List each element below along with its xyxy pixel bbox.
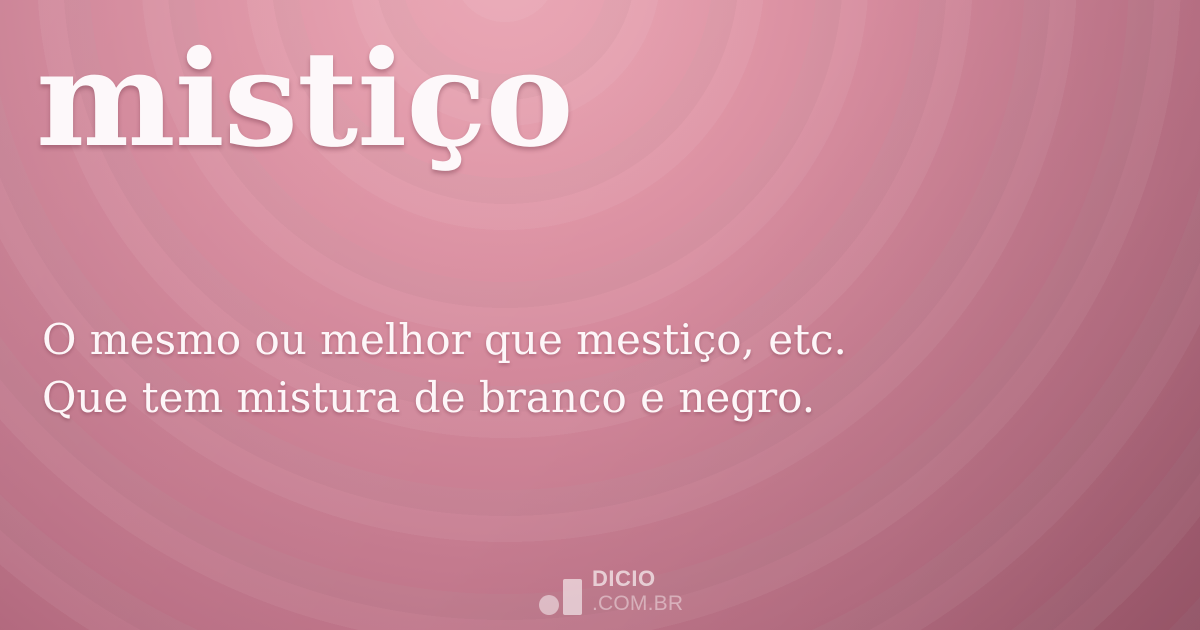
logo-domain-suffix: .COM.BR xyxy=(592,593,683,614)
logo-bar-icon xyxy=(563,579,582,615)
dicio-logo[interactable]: DICIO .COM.BR xyxy=(539,568,683,615)
headword-title: mistiço xyxy=(36,17,573,182)
logo-brand-name: DICIO xyxy=(592,568,683,590)
definition-card: mistiço O mesmo ou melhor que mestiço, e… xyxy=(0,0,1200,630)
definition-line-2: Que tem mistura de branco e negro. xyxy=(42,369,1162,427)
logo-circle-icon xyxy=(539,595,559,615)
logo-mark xyxy=(539,577,581,615)
definition-line-1: O mesmo ou melhor que mestiço, etc. xyxy=(42,311,1162,369)
logo-wordmark: DICIO .COM.BR xyxy=(592,568,683,615)
card-content: mistiço O mesmo ou melhor que mestiço, e… xyxy=(0,0,1200,630)
definition-list: O mesmo ou melhor que mestiço, etc. Que … xyxy=(42,311,1162,427)
